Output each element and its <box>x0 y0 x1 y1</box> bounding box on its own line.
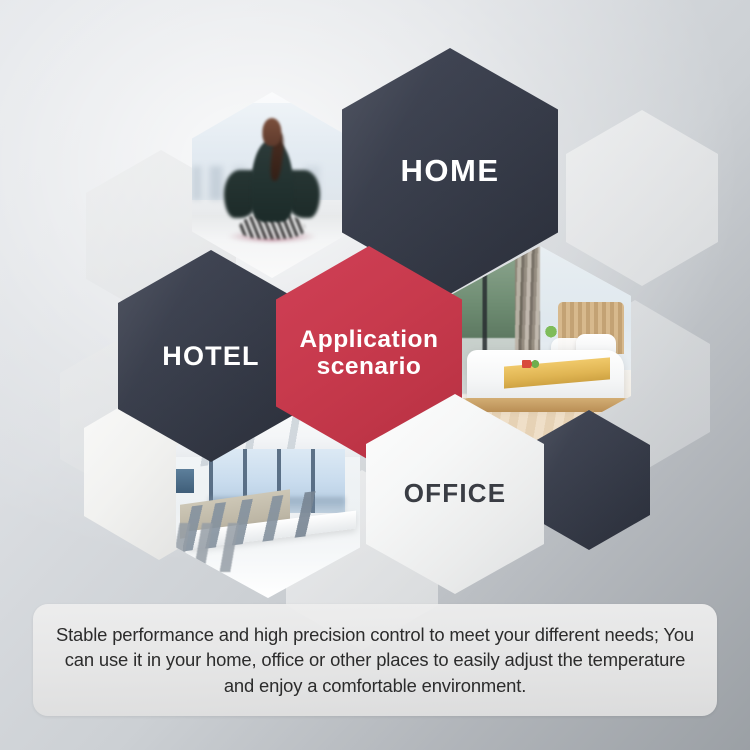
tile-center-line2: scenario <box>317 353 422 380</box>
decorative-hexagon-top-right <box>566 110 718 286</box>
tile-center-line1: Application <box>300 326 439 353</box>
tile-office-label: OFFICE <box>404 479 507 508</box>
caption-text: Stable performance and high precision co… <box>51 622 699 698</box>
tile-center-label: Application scenario <box>300 326 439 381</box>
tile-home-label: HOME <box>401 154 500 189</box>
scenario-infographic: HOME HOTEL Application scenario OFFICE S… <box>0 0 750 750</box>
caption-panel: Stable performance and high precision co… <box>33 604 717 716</box>
tile-hotel-label: HOTEL <box>162 341 260 371</box>
